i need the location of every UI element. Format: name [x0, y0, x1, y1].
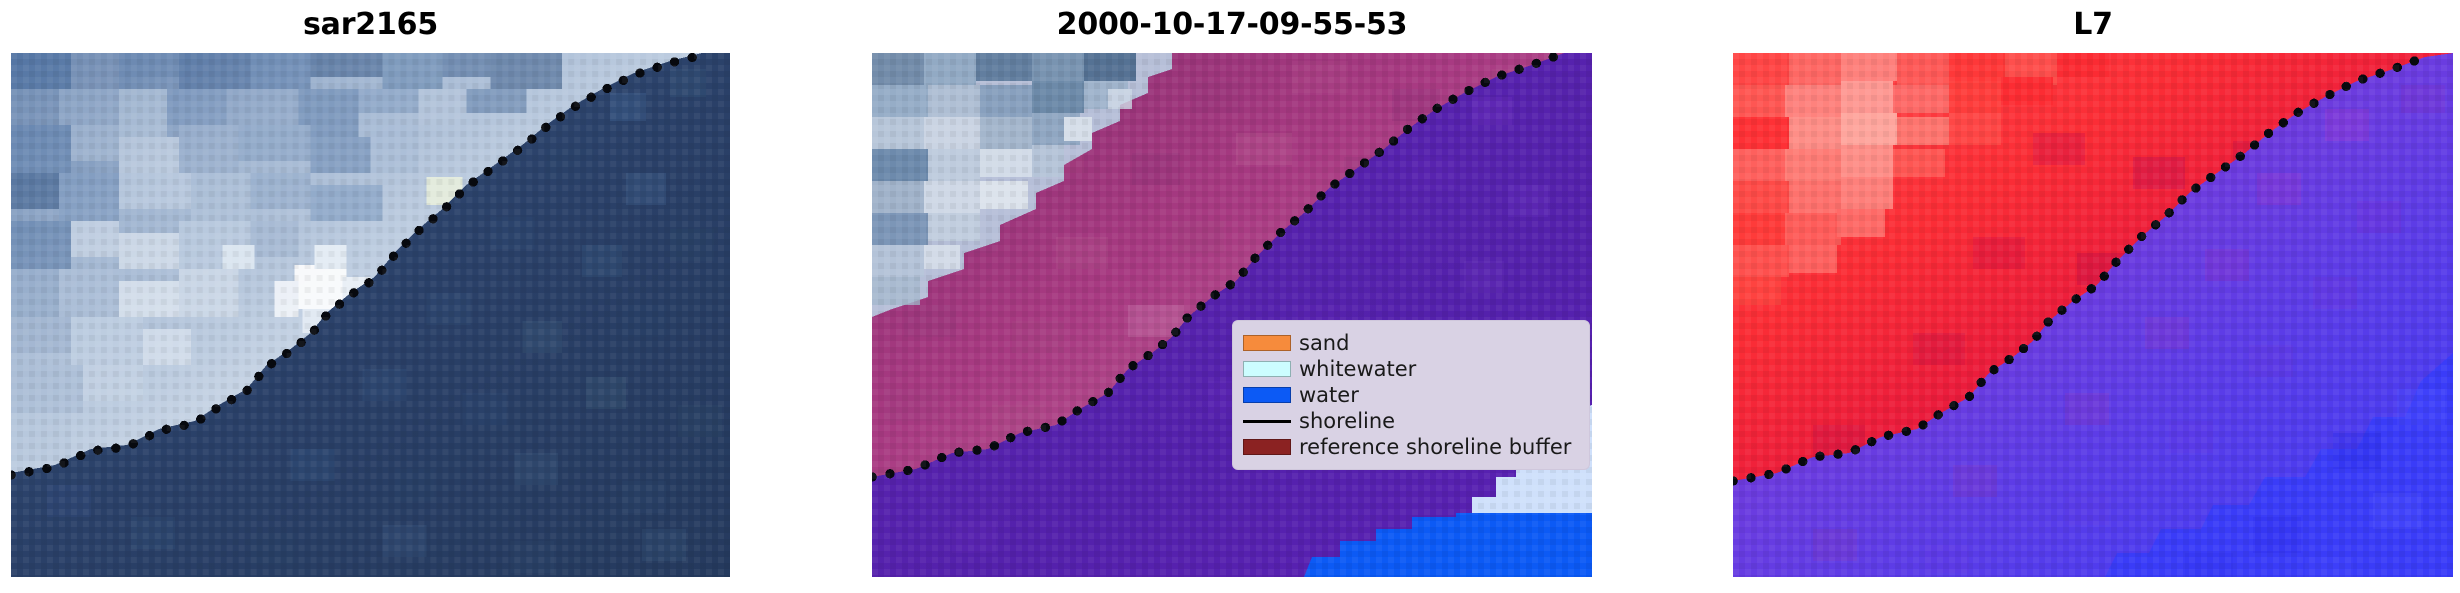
legend-swatch-water: [1243, 387, 1291, 403]
panel-image-1[interactable]: [872, 53, 1592, 577]
legend-swatch-shoreline-wrap: [1243, 420, 1299, 423]
legend-item-reference-shoreline-buffer: reference shoreline buffer: [1243, 434, 1577, 460]
panel-title-1: 2000-10-17-09-55-53: [872, 7, 1592, 43]
legend-label-sand: sand: [1299, 330, 1349, 356]
panel-2000-10-17-09-55-53: 2000-10-17-09-55-53: [872, 53, 1592, 577]
legend-line-shoreline: [1243, 420, 1291, 423]
panel-title-0: sar2165: [11, 7, 730, 43]
legend-swatch-water-wrap: [1243, 387, 1299, 403]
legend-swatch-reference-buffer-wrap: [1243, 439, 1299, 455]
legend-swatch-whitewater-wrap: [1243, 361, 1299, 377]
panel-image-0[interactable]: [11, 53, 730, 577]
legend-label-shoreline: shoreline: [1299, 408, 1395, 434]
legend-item-water: water: [1243, 382, 1577, 408]
panel-sar2165: sar2165: [11, 53, 730, 577]
panel-image-2[interactable]: [1733, 53, 2453, 577]
figure-canvas: sar2165: [0, 0, 2460, 593]
legend-swatch-sand: [1243, 335, 1291, 351]
legend-box: sand whitewater water shoreline referenc: [1232, 320, 1590, 470]
legend-item-shoreline: shoreline: [1243, 408, 1577, 434]
legend-label-reference-shoreline-buffer: reference shoreline buffer: [1299, 434, 1571, 460]
legend-item-sand: sand: [1243, 330, 1577, 356]
panel-title-2: L7: [1733, 7, 2453, 43]
legend-label-water: water: [1299, 382, 1359, 408]
legend-swatch-sand-wrap: [1243, 335, 1299, 351]
panel-L7: L7: [1733, 53, 2453, 577]
legend-swatch-reference-shoreline-buffer: [1243, 439, 1291, 455]
legend-label-whitewater: whitewater: [1299, 356, 1416, 382]
legend-swatch-whitewater: [1243, 361, 1291, 377]
legend-item-whitewater: whitewater: [1243, 356, 1577, 382]
